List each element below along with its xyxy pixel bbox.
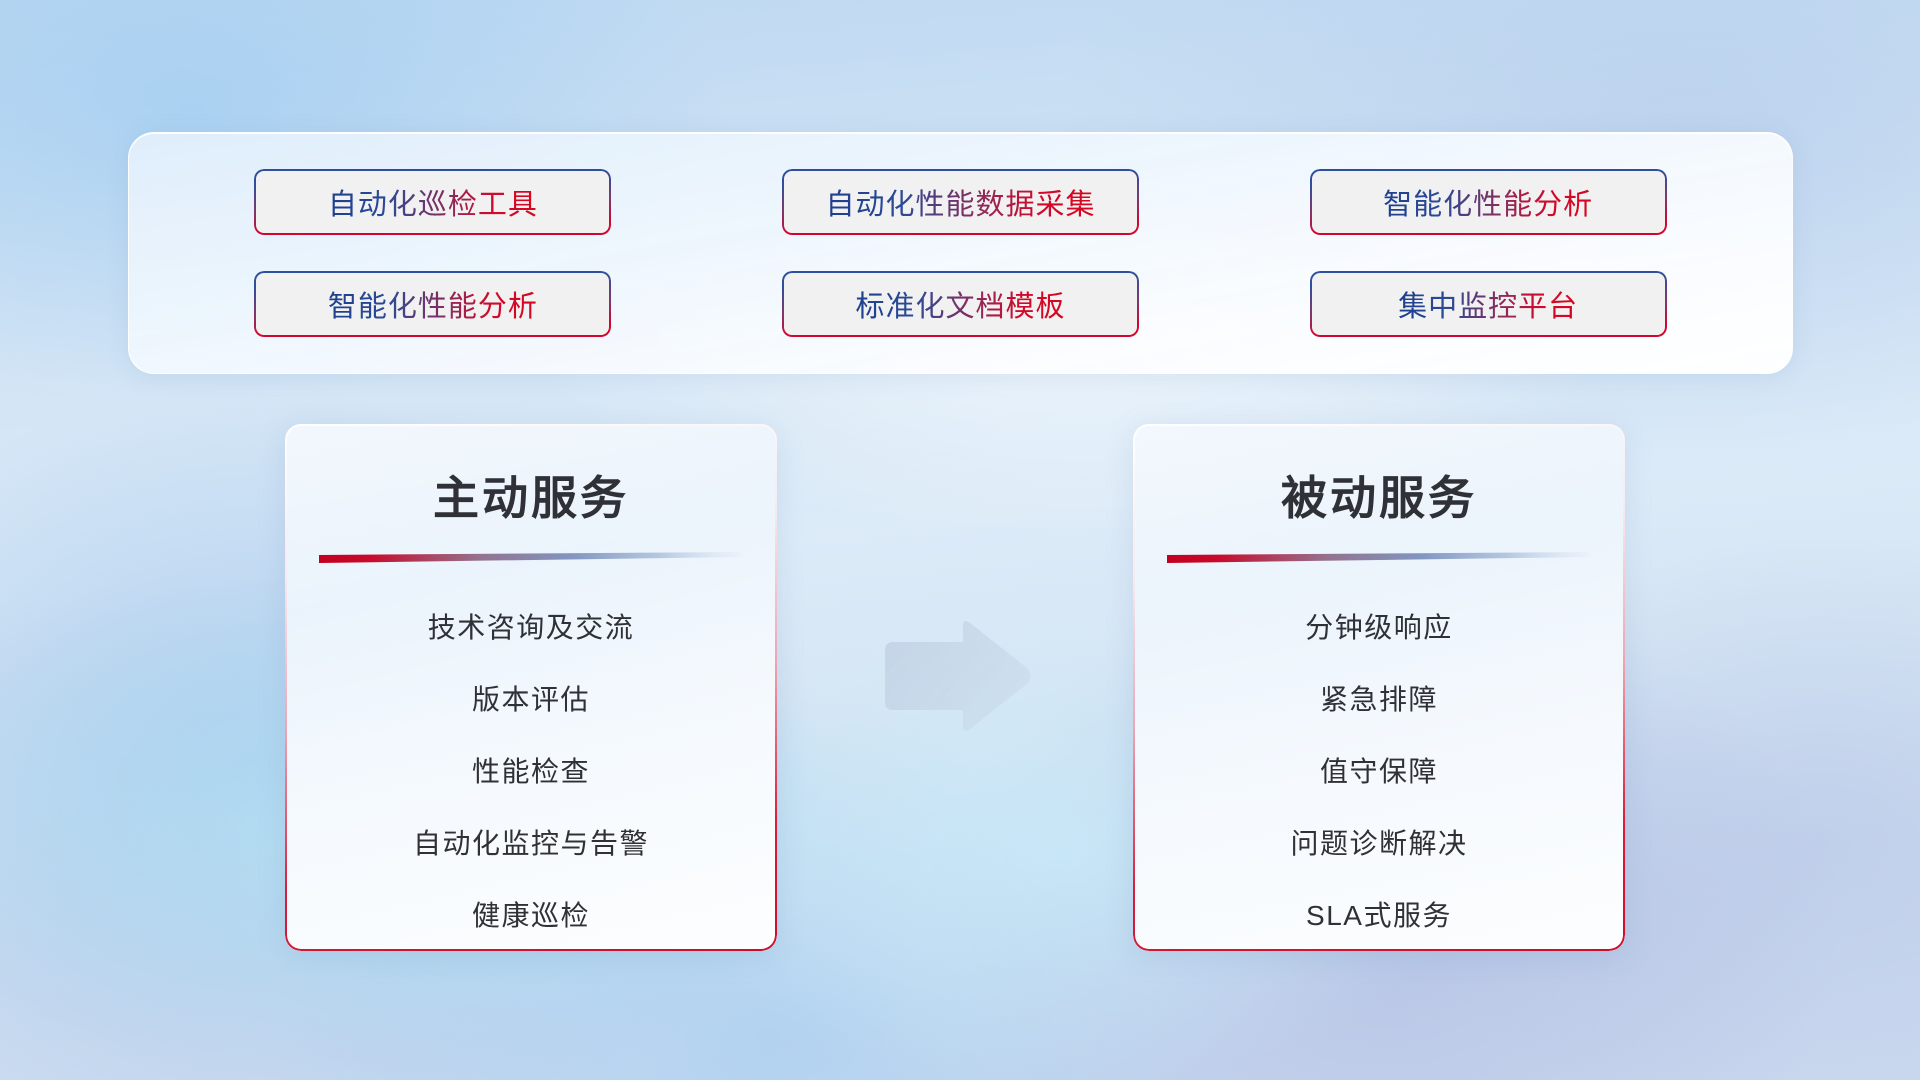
- active-service-item-1[interactable]: 技术咨询及交流: [285, 592, 777, 664]
- capability-pill-3[interactable]: 智能化性能分析: [1310, 169, 1667, 235]
- capabilities-grid: 自动化巡检工具 自动化性能数据采集 智能化性能分析 智能化性能分析 标准化文档模…: [129, 133, 1792, 373]
- active-service-card[interactable]: 主动服务 技术咨询及交流 版本评估 性能检查: [285, 424, 777, 951]
- active-service-divider: [319, 552, 743, 566]
- capability-pill-2-label: 自动化性能数据采集: [825, 181, 1095, 223]
- capability-pill-3-label: 智能化性能分析: [1383, 181, 1593, 223]
- active-service-item-5[interactable]: 健康巡检: [285, 880, 777, 951]
- capabilities-panel: 自动化巡检工具 自动化性能数据采集 智能化性能分析 智能化性能分析 标准化文档模…: [128, 132, 1793, 374]
- active-service-item-4[interactable]: 自动化监控与告警: [285, 808, 777, 880]
- passive-service-item-5[interactable]: SLA式服务: [1133, 880, 1625, 951]
- capability-pill-4[interactable]: 智能化性能分析: [254, 271, 611, 337]
- active-service-list: 技术咨询及交流 版本评估 性能检查 自动化监控与告警 健康巡检: [285, 592, 777, 951]
- diagram-canvas: 自动化巡检工具 自动化性能数据采集 智能化性能分析 智能化性能分析 标准化文档模…: [0, 0, 1920, 1080]
- passive-service-item-1[interactable]: 分钟级响应: [1133, 592, 1625, 664]
- capability-pill-1-label: 自动化巡检工具: [328, 181, 538, 223]
- passive-service-list: 分钟级响应 紧急排障 值守保障 问题诊断解决 SLA式服务: [1133, 592, 1625, 951]
- capability-pill-1[interactable]: 自动化巡检工具: [254, 169, 611, 235]
- capability-pill-6[interactable]: 集中监控平台: [1310, 271, 1667, 337]
- capability-pill-5-label: 标准化文档模板: [855, 283, 1065, 325]
- capability-pill-5[interactable]: 标准化文档模板: [782, 271, 1139, 337]
- capability-pill-4-label: 智能化性能分析: [328, 283, 538, 325]
- passive-service-card[interactable]: 被动服务 分钟级响应 紧急排障 值守保障: [1133, 424, 1625, 951]
- active-service-title: 主动服务: [285, 462, 777, 528]
- passive-service-item-4[interactable]: 问题诊断解决: [1133, 808, 1625, 880]
- passive-service-divider: [1167, 552, 1591, 566]
- arrow-right-icon: [875, 616, 1035, 736]
- capability-pill-6-label: 集中监控平台: [1398, 283, 1578, 325]
- passive-service-title: 被动服务: [1133, 462, 1625, 528]
- capability-pill-2[interactable]: 自动化性能数据采集: [782, 169, 1139, 235]
- passive-service-item-3[interactable]: 值守保障: [1133, 736, 1625, 808]
- active-service-item-3[interactable]: 性能检查: [285, 736, 777, 808]
- active-service-item-2[interactable]: 版本评估: [285, 664, 777, 736]
- passive-service-item-2[interactable]: 紧急排障: [1133, 664, 1625, 736]
